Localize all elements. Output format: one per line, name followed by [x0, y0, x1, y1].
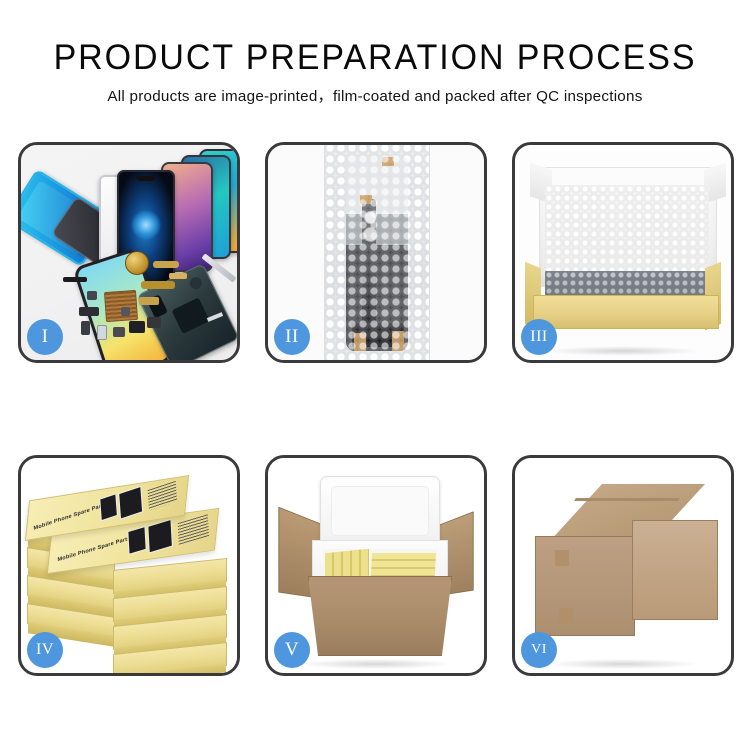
carton-body: [308, 576, 452, 656]
panel-step-1[interactable]: I: [18, 142, 240, 363]
panel-step-2[interactable]: II: [265, 142, 487, 363]
carton-side-face: [632, 520, 718, 620]
step-badge-6: VI: [521, 632, 557, 668]
panel-step-3[interactable]: III: [512, 142, 734, 363]
panel-step-4[interactable]: Mobile Phone Spare Parts Mobile Phone Sp…: [18, 455, 240, 676]
carton-front-face: [535, 536, 635, 636]
process-grid: I: [18, 142, 734, 676]
box-label-text-2: Mobile Phone Spare Parts: [57, 536, 130, 564]
step-badge-5: V: [274, 632, 310, 668]
inner-box-front: [533, 295, 719, 329]
panel-step-5[interactable]: V: [265, 455, 487, 676]
step-badge-3: III: [521, 319, 557, 355]
foam-lid: [320, 476, 440, 546]
header: PRODUCT PREPARATION PROCESS All products…: [0, 38, 750, 107]
bubble-wrap-sleeve: [324, 145, 430, 360]
logic-board-chip: [104, 290, 138, 322]
step-badge-4: IV: [27, 632, 63, 668]
product-preparation-page: PRODUCT PREPARATION PROCESS All products…: [0, 0, 750, 750]
step-badge-2: II: [274, 319, 310, 355]
step-badge-1: I: [27, 319, 63, 355]
panel-step-6[interactable]: VI: [512, 455, 734, 676]
inner-box-foam: [545, 185, 709, 275]
wrapped-part: [346, 155, 408, 351]
box-label-text-1: Mobile Phone Spare Parts: [33, 502, 106, 532]
page-title: PRODUCT PREPARATION PROCESS: [11, 38, 739, 78]
page-subtitle: All products are image-printed，film-coat…: [0, 87, 750, 107]
speaker-component: [125, 251, 149, 275]
